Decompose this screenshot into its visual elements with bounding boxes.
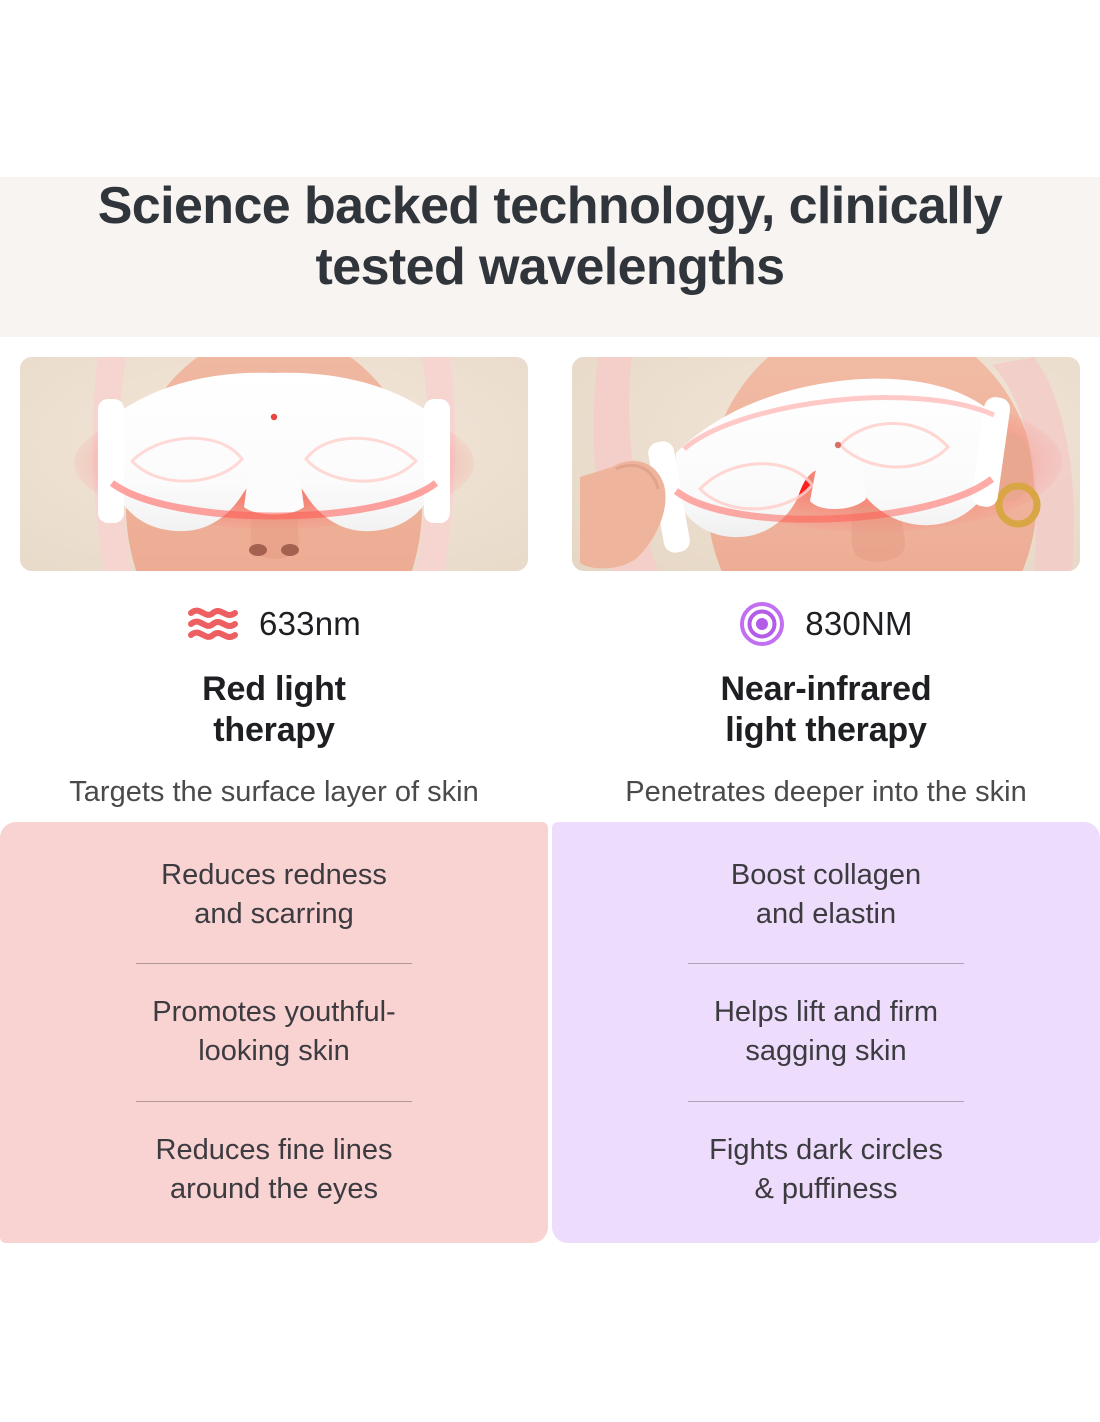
- benefit-item: Promotes youthful- looking skin: [60, 993, 488, 1071]
- card-near-infrared: 830NM Near-infrared light therapy Penetr…: [552, 337, 1100, 1243]
- benefit-divider: [688, 963, 964, 964]
- wavelength-value: 633nm: [259, 605, 361, 643]
- infographic-page: Science backed technology, clinically te…: [0, 0, 1100, 1422]
- photo-red-light-therapy: [20, 357, 528, 571]
- benefit-item: Reduces redness and scarring: [60, 856, 488, 934]
- card-top-red-light: 633nm Red light therapy Targets the surf…: [0, 337, 548, 819]
- benefit-item: Boost collagen and elastin: [612, 856, 1040, 934]
- benefit-divider: [688, 1101, 964, 1102]
- wavelength-badge-red: 633nm: [20, 601, 528, 647]
- benefits-panel-red: Reduces redness and scarring Promotes yo…: [0, 822, 548, 1243]
- benefit-item: Fights dark circles & puffiness: [612, 1131, 1040, 1209]
- benefit-divider: [136, 963, 412, 964]
- therapy-title: Near-infrared light therapy: [572, 669, 1080, 752]
- benefit-item: Reduces fine lines around the eyes: [60, 1131, 488, 1209]
- therapy-subtitle: Targets the surface layer of skin: [20, 774, 528, 812]
- wavelength-badge-near-infrared: 830NM: [572, 601, 1080, 647]
- photo-near-infrared-therapy: [572, 357, 1080, 571]
- concentric-circles-icon: [739, 601, 785, 647]
- card-red-light: 633nm Red light therapy Targets the surf…: [0, 337, 548, 1243]
- card-top-near-infrared: 830NM Near-infrared light therapy Penetr…: [552, 337, 1100, 819]
- page-title: Science backed technology, clinically te…: [0, 176, 1100, 299]
- therapy-subtitle: Penetrates deeper into the skin: [572, 774, 1080, 812]
- therapy-title: Red light therapy: [20, 669, 528, 752]
- wave-lines-icon: [187, 604, 239, 644]
- comparison-cards: 633nm Red light therapy Targets the surf…: [0, 337, 1100, 1243]
- benefits-panel-near-infrared: Boost collagen and elastin Helps lift an…: [552, 822, 1100, 1243]
- benefit-item: Helps lift and firm sagging skin: [612, 993, 1040, 1071]
- wavelength-value: 830NM: [805, 605, 912, 643]
- benefit-divider: [136, 1101, 412, 1102]
